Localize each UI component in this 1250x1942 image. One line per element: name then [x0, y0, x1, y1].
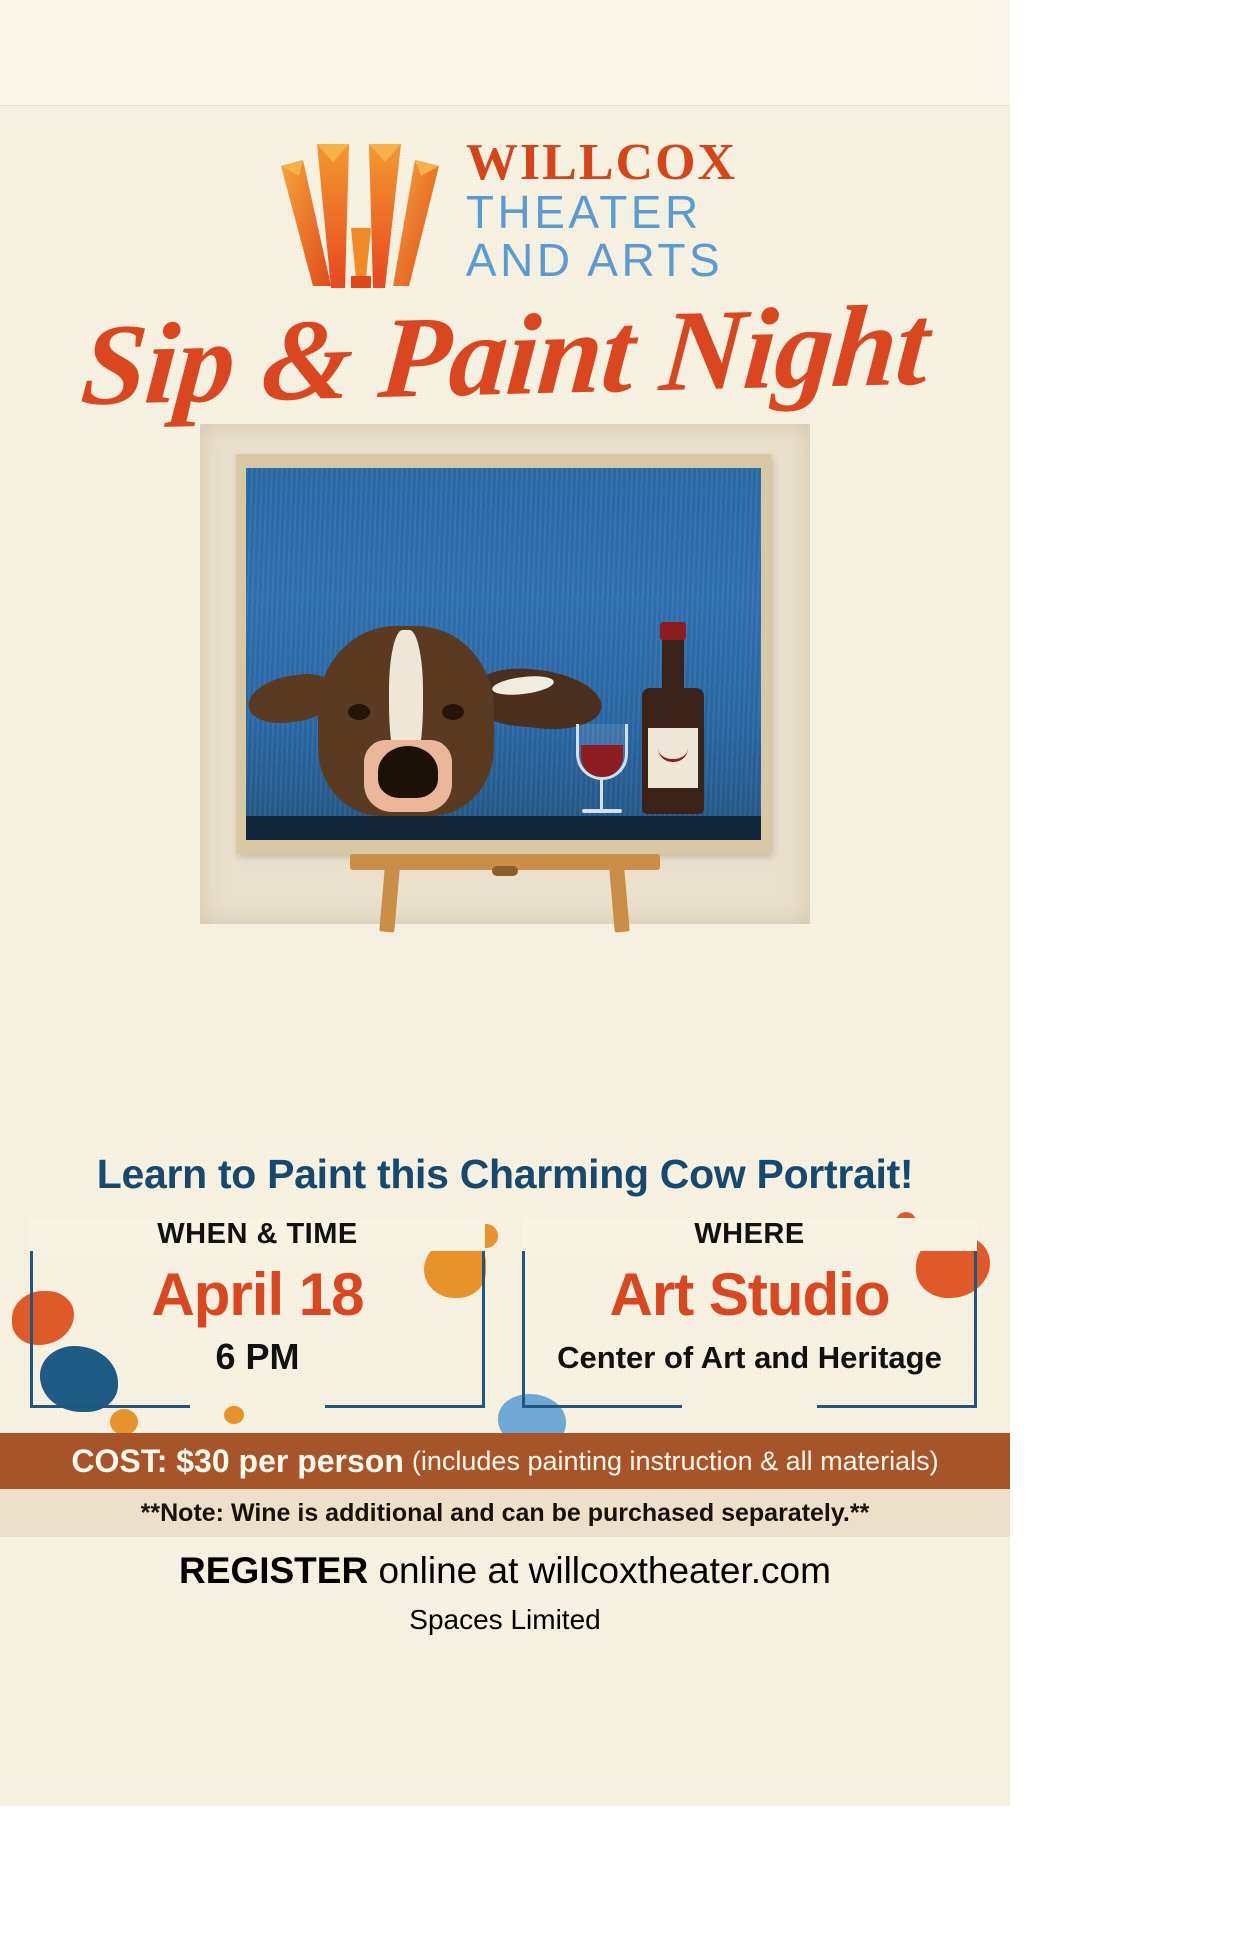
cow-eye-left	[348, 704, 370, 720]
cow-nostrils	[378, 746, 438, 798]
register-line[interactable]: REGISTER online at willcoxtheater.com	[0, 1550, 1010, 1592]
wine-bottle-cap	[660, 622, 686, 640]
event-date: April 18	[30, 1260, 485, 1329]
wine-glass-stem	[600, 778, 603, 810]
detail-heading-where-label: WHERE	[680, 1218, 818, 1250]
register-keyword: REGISTER	[179, 1550, 368, 1591]
event-time: 6 PM	[30, 1336, 485, 1378]
detail-heading-when: WHEN & TIME	[30, 1218, 485, 1251]
detail-heading-when-label: WHEN & TIME	[143, 1218, 371, 1250]
poster-top-strip	[0, 0, 1010, 106]
detail-heading-where: WHERE	[522, 1218, 977, 1251]
willcox-w-mark-icon	[273, 136, 448, 291]
wine-bottle-neck	[662, 632, 684, 694]
event-details: WHEN & TIME April 18 6 PM WHERE Art Stud…	[0, 1218, 1010, 1418]
note-banner: **Note: Wine is additional and can be pu…	[0, 1489, 1010, 1537]
logo-line-and-arts: AND ARTS	[466, 237, 737, 285]
detail-where: WHERE Art Studio Center of Art and Herit…	[522, 1218, 977, 1408]
logo-wordmark: WILLCOX THEATER AND ARTS	[466, 136, 737, 285]
painting-ground	[246, 816, 761, 840]
event-venue: Art Studio	[522, 1260, 977, 1329]
register-url-text[interactable]: online at willcoxtheater.com	[368, 1550, 831, 1591]
cost-inclusions: (includes painting instruction & all mat…	[412, 1446, 939, 1477]
poster-sheet: WILLCOX THEATER AND ARTS Sip & Paint Nig…	[0, 106, 1010, 1806]
easel-knob	[492, 866, 518, 876]
organization-logo: WILLCOX THEATER AND ARTS	[0, 136, 1010, 291]
cost-banner: COST: $30 per person (includes painting …	[0, 1433, 1010, 1489]
cow-portrait-painting	[200, 424, 810, 934]
spaces-limited-note: Spaces Limited	[0, 1604, 1010, 1636]
event-poster: WILLCOX THEATER AND ARTS Sip & Paint Nig…	[0, 0, 1250, 1942]
wine-note: **Note: Wine is additional and can be pu…	[141, 1499, 870, 1528]
poster-subtitle: Learn to Paint this Charming Cow Portrai…	[0, 1151, 1010, 1198]
logo-line-willcox: WILLCOX	[466, 138, 737, 189]
wine-glass-foot	[582, 809, 622, 813]
logo-line-theater: THEATER	[466, 189, 737, 237]
canvas-frame	[236, 454, 771, 854]
detail-when-and-time: WHEN & TIME April 18 6 PM	[30, 1218, 485, 1408]
cow-eye-right	[442, 704, 464, 720]
poster-headline: Sip & Paint Night	[0, 286, 1010, 427]
cost-amount: COST: $30 per person	[71, 1443, 404, 1480]
event-venue-address: Center of Art and Heritage	[522, 1340, 977, 1376]
painted-canvas	[246, 468, 761, 840]
